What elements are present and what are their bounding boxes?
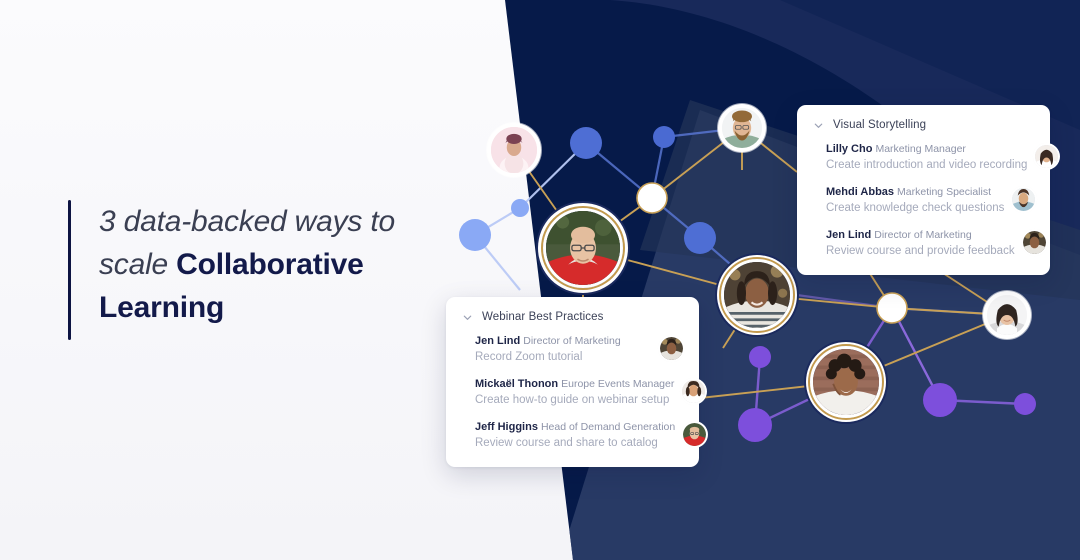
node-purple-2 (738, 408, 772, 442)
node-hub-2 (877, 293, 907, 323)
avatar-network-pink[interactable] (487, 123, 541, 177)
avatar-mehdi-abbas-photo (1012, 188, 1035, 211)
row-text: Lilly ChoMarketing Manager Create introd… (813, 142, 1027, 173)
card-visual-storytelling[interactable]: Visual Storytelling Lilly ChoMarketing M… (797, 105, 1050, 275)
assignee-role: Director of Marketing (523, 335, 620, 347)
avatar-image (1023, 231, 1046, 254)
card-webinar-best-practices[interactable]: Webinar Best Practices Jen LindDirector … (446, 297, 699, 467)
list-item[interactable]: Mehdi AbbasMarketing Specialist Create k… (813, 185, 1034, 216)
avatar-network-hero-photo (546, 211, 620, 285)
task-label: Create knowledge check questions (826, 200, 1004, 216)
assignee-name: Jen Lind (826, 229, 871, 241)
assignee-name: Jeff Higgins (475, 421, 538, 433)
card-header[interactable]: Visual Storytelling (813, 119, 1034, 131)
avatar-network-smile-photo (724, 262, 790, 328)
avatar-network-curly-photo (813, 349, 879, 415)
row-text: Jeff HigginsHead of Demand Generation Re… (462, 420, 675, 451)
row-text: Jen LindDirector of Marketing Record Zoo… (462, 334, 652, 365)
node-blue-5 (684, 222, 716, 254)
row-text: Mickaël ThononEurope Events Manager Crea… (462, 377, 674, 408)
task-label: Create introduction and video recording (826, 157, 1027, 173)
task-label: Review course and provide feedback (826, 243, 1015, 259)
nodes-purple (738, 346, 1036, 442)
list-item[interactable]: Mickaël ThononEurope Events Manager Crea… (462, 377, 683, 408)
avatar-network-beard[interactable] (718, 104, 766, 152)
task-label: Create how-to guide on webinar setup (475, 392, 674, 408)
avatar-jen-lind[interactable] (660, 337, 683, 360)
node-blue-4 (653, 126, 675, 148)
avatar-network-pink-photo (491, 127, 537, 173)
slide-canvas: 3 data-backed ways to scale Collaborativ… (0, 0, 1080, 560)
avatar-jen-lind-photo (1023, 231, 1046, 254)
assignee-name: Lilly Cho (826, 143, 872, 155)
list-item[interactable]: Jen LindDirector of Marketing Review cou… (813, 228, 1034, 259)
node-blue-3 (570, 127, 602, 159)
avatar-network-curly[interactable] (810, 346, 882, 418)
node-purple-1 (749, 346, 771, 368)
avatar-jen-lind-photo (660, 337, 683, 360)
assignee-role: Europe Events Manager (561, 378, 674, 390)
avatar-image (660, 337, 683, 360)
page-title: 3 data-backed ways to scale Collaborativ… (99, 200, 429, 340)
row-name-role: Lilly ChoMarketing Manager (826, 142, 1027, 157)
list-item[interactable]: Lilly ChoMarketing Manager Create introd… (813, 142, 1034, 173)
avatar-jen-lind[interactable] (1023, 231, 1046, 254)
node-hub-1 (637, 183, 667, 213)
node-purple-3 (923, 383, 957, 417)
card-title: Webinar Best Practices (482, 311, 604, 323)
avatar-mehdi-abbas[interactable] (1012, 188, 1035, 211)
row-name-role: Mickaël ThononEurope Events Manager (475, 377, 674, 392)
node-purple-4 (1014, 393, 1036, 415)
row-name-role: Mehdi AbbasMarketing Specialist (826, 185, 1004, 200)
row-text: Mehdi AbbasMarketing Specialist Create k… (813, 185, 1004, 216)
assignee-role: Director of Marketing (874, 229, 971, 241)
row-text: Jen LindDirector of Marketing Review cou… (813, 228, 1015, 259)
assignee-name: Jen Lind (475, 335, 520, 347)
chevron-down-icon[interactable] (813, 120, 824, 131)
avatar-network-right[interactable] (983, 291, 1031, 339)
avatar-network-beard-photo (722, 108, 762, 148)
list-item[interactable]: Jen LindDirector of Marketing Record Zoo… (462, 334, 683, 365)
assignee-name: Mickaël Thonon (475, 378, 558, 390)
assignee-name: Mehdi Abbas (826, 186, 894, 198)
row-name-role: Jeff HigginsHead of Demand Generation (475, 420, 675, 435)
node-blue-1 (459, 219, 491, 251)
card-header[interactable]: Webinar Best Practices (462, 311, 683, 323)
assignee-role: Marketing Manager (875, 143, 965, 155)
avatar-network-right-photo (987, 295, 1027, 335)
card-title: Visual Storytelling (833, 119, 926, 131)
avatar-network-hero[interactable] (543, 208, 623, 288)
list-item[interactable]: Jeff HigginsHead of Demand Generation Re… (462, 420, 683, 451)
node-blue-2 (511, 199, 529, 217)
chevron-down-icon[interactable] (462, 312, 473, 323)
avatar-network-smile[interactable] (721, 259, 793, 331)
task-label: Review course and share to catalog (475, 435, 675, 451)
headline-block: 3 data-backed ways to scale Collaborativ… (68, 200, 429, 340)
headline-accent-bar (68, 200, 71, 340)
row-name-role: Jen LindDirector of Marketing (826, 228, 1015, 243)
avatar-image (1012, 188, 1035, 211)
task-label: Record Zoom tutorial (475, 349, 652, 365)
row-name-role: Jen LindDirector of Marketing (475, 334, 652, 349)
assignee-role: Head of Demand Generation (541, 421, 675, 433)
assignee-role: Marketing Specialist (897, 186, 991, 198)
